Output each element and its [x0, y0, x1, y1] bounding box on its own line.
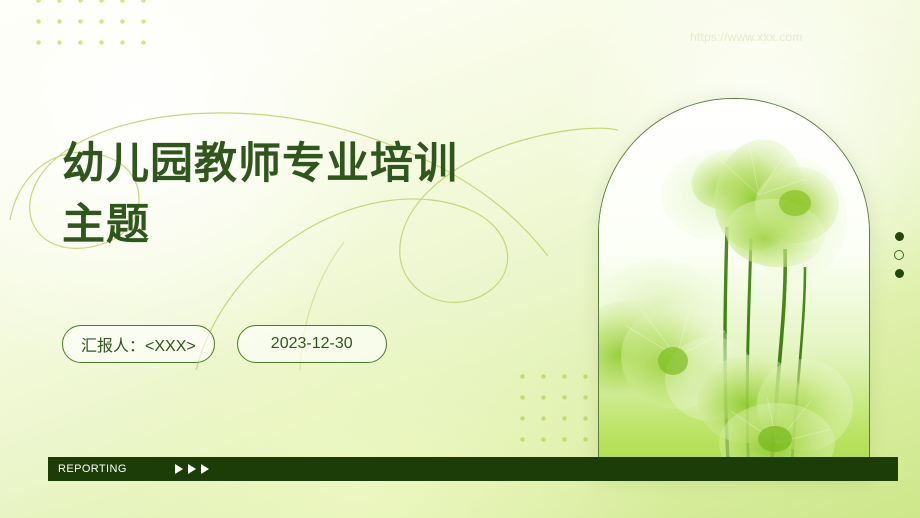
background-glow-bottom — [40, 278, 680, 518]
title-line-2: 主题 — [62, 195, 582, 256]
edge-dot-filled-bottom — [895, 269, 904, 278]
title-line-1: 幼儿园教师专业培训 — [62, 134, 582, 195]
presenter-pill[interactable]: 汇报人：<XXX> — [62, 325, 215, 363]
footer-bar: REPORTING — [48, 457, 898, 481]
slide-meta-row: 汇报人：<XXX> 2023-12-30 — [62, 325, 387, 363]
dot-grid-center-bottom — [510, 364, 608, 454]
edge-dot-indicators — [894, 232, 904, 278]
footer-label: REPORTING — [58, 463, 127, 475]
play-triangle-icon-2 — [188, 464, 196, 474]
edge-dot-hollow-middle — [894, 250, 904, 260]
floral-illustration — [599, 99, 869, 479]
date-pill[interactable]: 2023-12-30 — [237, 325, 387, 363]
floral-arch-image — [598, 98, 870, 479]
play-triangle-icon-1 — [175, 464, 183, 474]
footer-arrow-group — [175, 464, 209, 474]
edge-dot-filled-top — [895, 232, 904, 241]
watermark-url: https://www.xxx.com — [690, 30, 803, 44]
slide-title: 幼儿园教师专业培训 主题 — [62, 134, 582, 256]
play-triangle-icon-3 — [201, 464, 209, 474]
presentation-slide: https://www.xxx.com — [0, 0, 920, 518]
dot-grid-top-left — [26, 0, 162, 58]
